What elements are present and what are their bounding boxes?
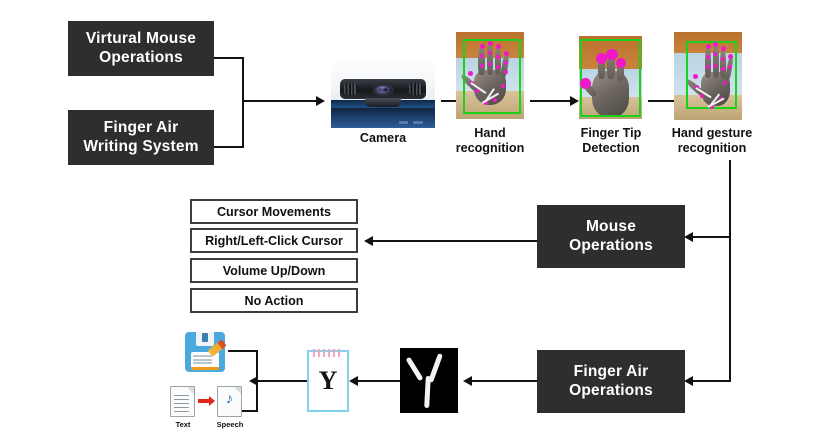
music-note-icon: ♪ (226, 392, 234, 407)
connector-hand-to-fingertip (530, 100, 572, 102)
landmark-dot (468, 71, 473, 76)
y-stroke-left (405, 357, 423, 382)
webcam-stand (365, 98, 400, 107)
connector-notepad-to-outputs (256, 380, 307, 382)
hand-recognition-photo (456, 32, 524, 119)
monitor-icon-a (399, 121, 408, 124)
hand-gesture-photo (674, 32, 742, 120)
fingertip-scene (579, 36, 642, 119)
output-no-action[interactable]: No Action (190, 288, 358, 313)
arrow-into-y-gesture-tile (463, 376, 472, 386)
arrow-into-notepad (349, 376, 358, 386)
landmark-dot (496, 55, 500, 59)
finger-air-line1: Finger Air (83, 119, 198, 138)
output-cursor-movements-label: Cursor Movements (217, 205, 331, 219)
caption-fingertip-line1: Finger Tip (566, 126, 656, 141)
caption-hand-line2: recognition (445, 141, 535, 156)
input-box-virtual-mouse[interactable]: Virtural Mouse Operations (68, 21, 214, 76)
gesture-scene (674, 32, 742, 120)
connector-air-output-spine (256, 350, 258, 412)
landmark-dot (480, 54, 484, 58)
output-right-left-click[interactable]: Right/Left-Click Cursor (190, 228, 358, 253)
notepad: Y (307, 350, 349, 412)
landmark-dot (504, 70, 508, 74)
notepad-letter: Y (309, 352, 347, 410)
virtual-mouse-line2: Operations (86, 49, 196, 68)
caption-camera-line1: Camera (360, 131, 406, 145)
camera-monitor (331, 108, 435, 128)
hand-bounding-box (463, 39, 521, 114)
caption-hand-gesture-recognition: Hand gesture recognition (663, 126, 761, 157)
speech-label: Speech (212, 420, 248, 429)
fingertip-dot (580, 78, 591, 89)
finger-air-line2: Writing System (83, 138, 198, 157)
fingertip-detection-photo (579, 36, 642, 119)
connector-merge-to-camera (242, 100, 318, 102)
webcam-lens-ring (373, 84, 394, 96)
air-ops-line2: Operations (569, 382, 653, 401)
landmark-dot (504, 61, 508, 65)
output-volume-up-down[interactable]: Volume Up/Down (190, 258, 358, 283)
speech-document-icon: ♪ (217, 386, 242, 417)
mouse-ops-line1: Mouse (569, 218, 653, 237)
fingertip-dot (616, 58, 626, 68)
mouse-operations-box[interactable]: Mouse Operations (537, 205, 685, 268)
conversion-arrow-head (209, 396, 215, 406)
y-stroke-stem (424, 376, 431, 408)
arrow-into-mouse-operations (684, 232, 693, 242)
caption-gesture-line2: recognition (663, 141, 761, 156)
connector-faw-to-merge (214, 146, 244, 148)
monitor-icon-b (413, 121, 422, 124)
landmark-dot (721, 57, 725, 61)
landmark-dot (700, 94, 704, 98)
landmark-dot (706, 55, 710, 59)
save-icon-shutter (196, 332, 214, 346)
arrow-into-finger-air-operations (684, 376, 693, 386)
landmark-dot (504, 51, 509, 56)
hand-scene (456, 32, 524, 119)
input-box-finger-air-writing[interactable]: Finger Air Writing System (68, 110, 214, 165)
connector-air-ops-to-ytile (470, 380, 537, 382)
air-ops-line1: Finger Air (569, 363, 653, 382)
landmark-dot (728, 54, 733, 59)
webcam-lens-glass (380, 88, 388, 92)
save-document-icon (185, 332, 225, 372)
caption-fingertip-detection: Finger Tip Detection (566, 126, 656, 157)
connector-ytile-to-notepad (355, 380, 400, 382)
webcam-body (340, 79, 425, 99)
output-no-action-label: No Action (245, 294, 304, 308)
connector-spine-to-mouse-ops (690, 236, 731, 238)
connector-merge-spine (242, 57, 244, 148)
arrow-into-mouse-outputs (364, 236, 373, 246)
connector-spine-to-air-ops (690, 380, 731, 382)
doc-fold-corner (235, 387, 241, 395)
landmark-dot (480, 64, 484, 68)
finger-air-operations-box[interactable]: Finger Air Operations (537, 350, 685, 413)
mouse-ops-line2: Operations (569, 237, 653, 256)
webcam-grill-left (344, 83, 357, 95)
output-volume-up-down-label: Volume Up/Down (223, 264, 326, 278)
connector-vm-to-merge (214, 57, 244, 59)
landmark-dot (488, 41, 493, 46)
text-document-icon (170, 386, 195, 417)
landmark-dot (721, 46, 726, 51)
connector-spine-to-save-icon (228, 350, 258, 352)
landmark-dot (728, 65, 732, 69)
y-gesture-tile (400, 348, 458, 413)
caption-gesture-line1: Hand gesture (663, 126, 761, 141)
flow-diagram: Virtural Mouse Operations Finger Air Wri… (0, 0, 818, 438)
virtual-mouse-line1: Virtural Mouse (86, 30, 196, 49)
caption-hand-recognition: Hand recognition (445, 126, 535, 157)
arrow-into-fingertip-detection (570, 96, 579, 106)
connector-mouse-ops-to-outputs (372, 240, 537, 242)
caption-fingertip-line2: Detection (566, 141, 656, 156)
camera-photo (331, 62, 435, 128)
arrow-into-camera (316, 96, 325, 106)
landmark-dot (480, 44, 485, 49)
connector-gesture-spine (729, 160, 731, 382)
text-label: Text (166, 420, 200, 429)
caption-camera: Camera (331, 131, 435, 146)
output-cursor-movements[interactable]: Cursor Movements (190, 199, 358, 224)
output-right-left-click-label: Right/Left-Click Cursor (205, 234, 343, 248)
webcam-grill-right (409, 83, 422, 95)
caption-hand-line1: Hand (445, 126, 535, 141)
